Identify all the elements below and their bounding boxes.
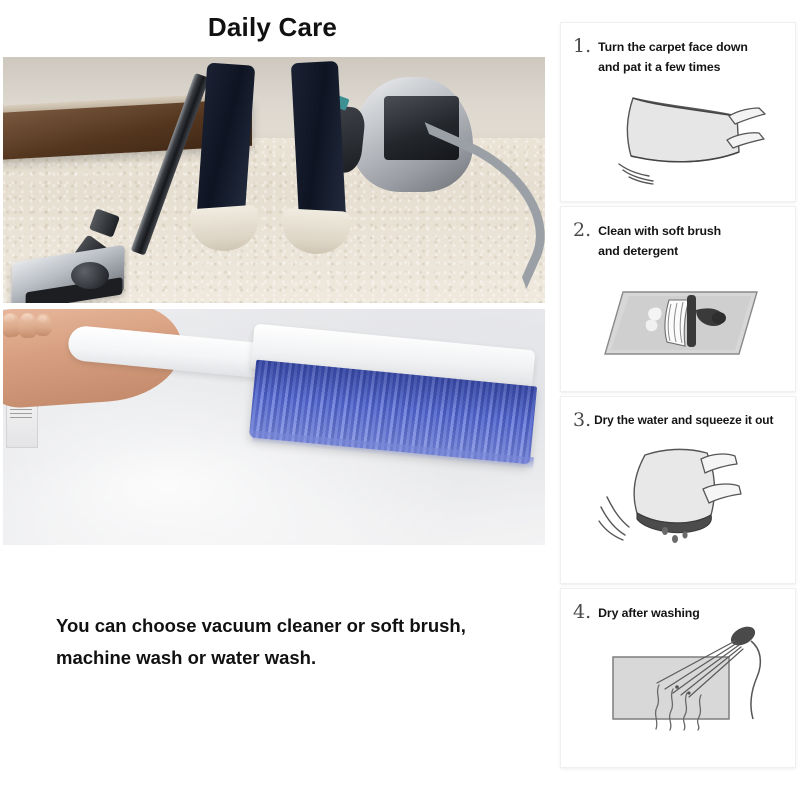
- step-3-text: Dry the water and squeeze it out: [594, 411, 773, 431]
- step-3-number: 3.: [573, 411, 591, 430]
- step-panel-2: 2. Clean with soft brush and detergent: [560, 206, 796, 392]
- squeeze-carpet-icon: [561, 431, 796, 549]
- care-caption-line-2: machine wash or water wash.: [56, 642, 526, 674]
- step-panel-1: 1. Turn the carpet face down and pat it …: [560, 22, 796, 202]
- step-2-text: Clean with soft brush and detergent: [598, 221, 721, 262]
- step-2-number: 2.: [573, 221, 591, 240]
- person-leg-left: [196, 63, 255, 219]
- care-steps-column: 1. Turn the carpet face down and pat it …: [556, 0, 800, 800]
- step-4-header: 4. Dry after washing: [561, 589, 795, 623]
- step-2-text-line-2: and detergent: [598, 244, 678, 258]
- step-1-text-line-2: and pat it a few times: [598, 60, 720, 74]
- left-content-column: You can choose vacuum cleaner or soft br…: [0, 0, 548, 800]
- step-4-text-line-1: Dry after washing: [598, 606, 700, 620]
- step-2-header: 2. Clean with soft brush and detergent: [561, 207, 795, 262]
- step-1-number: 1.: [573, 37, 591, 56]
- step-2-text-line-1: Clean with soft brush: [598, 224, 721, 238]
- step-4-text: Dry after washing: [598, 603, 700, 623]
- step-3-illustration: [561, 431, 795, 549]
- person-sock-left: [189, 205, 260, 254]
- finger: [33, 314, 51, 336]
- person-and-canister: [187, 57, 545, 303]
- person-leg-right: [290, 61, 345, 223]
- step-1-illustration: [561, 78, 795, 186]
- fingernail: [21, 314, 33, 322]
- care-caption: You can choose vacuum cleaner or soft br…: [56, 610, 526, 675]
- shower-rinse-icon: [561, 623, 796, 731]
- person-sock-right: [281, 208, 351, 256]
- fingernail: [37, 316, 47, 323]
- step-3-header: 3. Dry the water and squeeze it out: [561, 397, 795, 431]
- brush-on-mat-icon: [561, 262, 796, 370]
- step-1-text-line-1: Turn the carpet face down: [598, 40, 748, 54]
- care-caption-line-1: You can choose vacuum cleaner or soft br…: [56, 610, 526, 642]
- step-2-illustration: [561, 262, 795, 370]
- step-4-illustration: [561, 623, 795, 731]
- photo-vacuum-on-carpet: [3, 57, 545, 303]
- carpet-shake-icon: [561, 78, 796, 186]
- step-1-text: Turn the carpet face down and pat it a f…: [598, 37, 748, 78]
- step-4-number: 4.: [573, 603, 591, 622]
- fingernail: [3, 314, 15, 323]
- step-3-text-line-1: Dry the water and squeeze it out: [594, 413, 773, 427]
- step-panel-4: 4. Dry after washing: [560, 588, 796, 768]
- step-panel-3: 3. Dry the water and squeeze it out: [560, 396, 796, 584]
- photo-hand-with-soft-brush: [3, 309, 545, 545]
- step-1-header: 1. Turn the carpet face down and pat it …: [561, 23, 795, 78]
